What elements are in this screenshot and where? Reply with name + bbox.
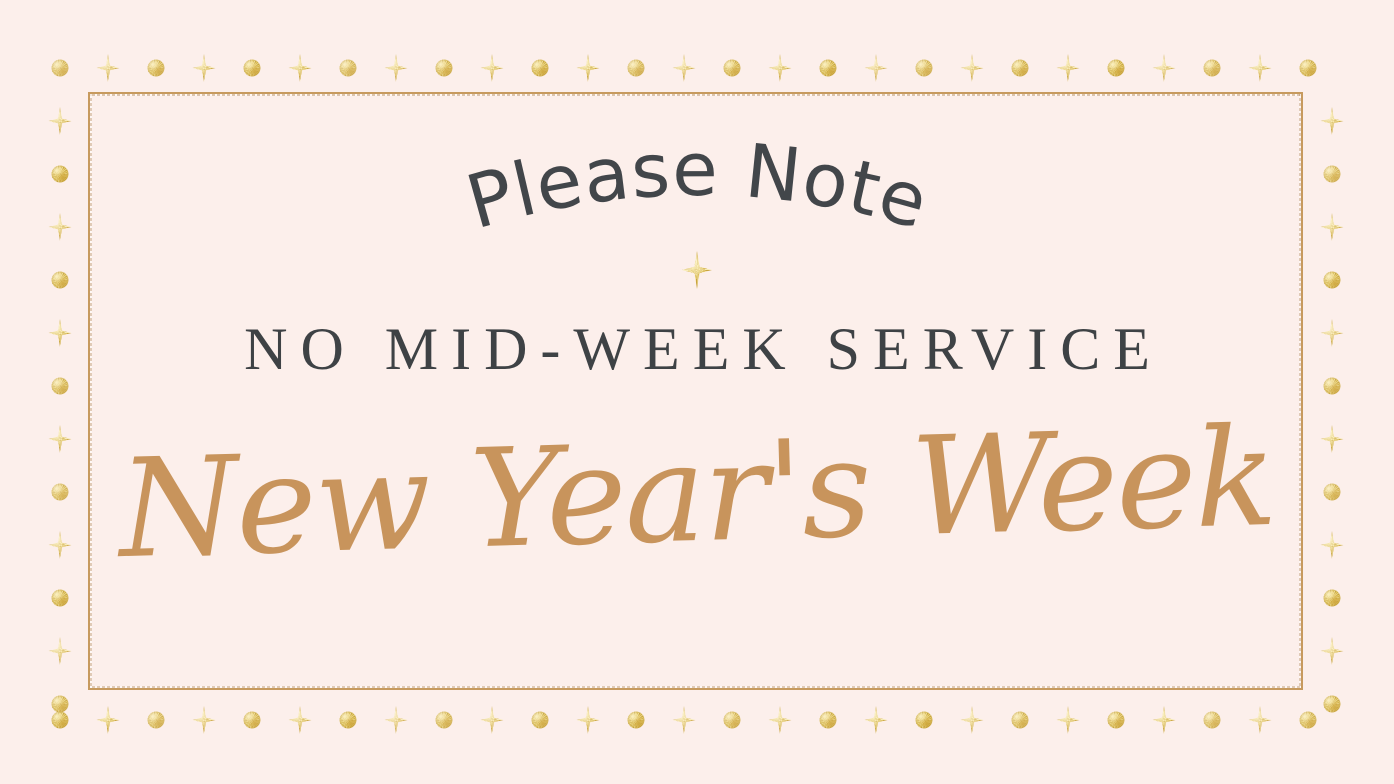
gold-four-point-star-icon <box>385 54 408 82</box>
gold-glitter-dot-icon <box>1324 590 1341 607</box>
gold-glitter-dot-icon <box>52 696 69 713</box>
gold-glitter-dot-icon <box>628 60 645 77</box>
gold-four-point-star-icon <box>673 54 696 82</box>
gold-glitter-dot-icon <box>436 60 453 77</box>
gold-four-point-star-icon <box>289 54 312 82</box>
gold-glitter-dot-icon <box>1108 60 1125 77</box>
gold-glitter-dot-icon <box>1204 712 1221 729</box>
gold-glitter-dot-icon <box>724 60 741 77</box>
eyebrow-textpath: Please Note <box>458 127 937 246</box>
gold-glitter-dot-icon <box>1012 712 1029 729</box>
gold-four-point-star-icon <box>1321 637 1344 665</box>
gold-four-point-star-icon <box>97 706 120 734</box>
gold-glitter-dot-icon <box>916 712 933 729</box>
gold-glitter-dot-icon <box>628 712 645 729</box>
gold-glitter-dot-icon <box>532 712 549 729</box>
gold-glitter-dot-icon <box>1324 272 1341 289</box>
gold-glitter-dot-icon <box>1108 712 1125 729</box>
announcement-poster: Please Note NO MID-WEEK SERVICE New Year… <box>0 0 1394 784</box>
gold-glitter-dot-icon <box>340 712 357 729</box>
gold-four-point-star-icon <box>769 54 792 82</box>
gold-glitter-dot-icon <box>436 712 453 729</box>
gold-four-point-star-icon <box>1153 54 1176 82</box>
headline-no-mid-week-service: NO MID-WEEK SERVICE <box>0 318 1394 381</box>
gold-four-point-star-icon <box>577 706 600 734</box>
gold-glitter-dot-icon <box>340 60 357 77</box>
gold-glitter-dot-icon <box>148 712 165 729</box>
gold-four-point-star-icon <box>1057 54 1080 82</box>
script-new-years-week: New Year's Week <box>0 377 1394 613</box>
gold-four-point-star-icon <box>1153 706 1176 734</box>
gold-glitter-dot-icon <box>724 712 741 729</box>
gold-glitter-dot-icon <box>1204 60 1221 77</box>
gold-four-point-star-icon <box>49 637 72 665</box>
gold-four-point-star-icon <box>481 54 504 82</box>
gold-glitter-dot-icon <box>244 60 261 77</box>
gold-glitter-dot-icon <box>820 60 837 77</box>
gold-glitter-dot-icon <box>1300 712 1317 729</box>
gold-four-point-star-icon <box>1057 706 1080 734</box>
eyebrow-arched-heading: Please Note <box>0 118 1394 248</box>
gold-glitter-dot-icon <box>52 60 69 77</box>
gold-four-point-star-icon <box>481 706 504 734</box>
gold-glitter-dot-icon <box>1324 696 1341 713</box>
gold-four-point-star-icon <box>673 706 696 734</box>
gold-glitter-dot-icon <box>244 712 261 729</box>
gold-glitter-dot-icon <box>1300 60 1317 77</box>
gold-glitter-dot-icon <box>52 272 69 289</box>
gold-four-point-star-icon <box>577 54 600 82</box>
gold-four-point-star-icon <box>1249 706 1272 734</box>
gold-four-point-star-icon <box>97 54 120 82</box>
gold-glitter-dot-icon <box>148 60 165 77</box>
gold-four-point-star-icon <box>1249 54 1272 82</box>
gold-four-point-star-icon <box>289 706 312 734</box>
gold-four-point-star-icon <box>961 54 984 82</box>
gold-glitter-dot-icon <box>916 60 933 77</box>
gold-glitter-dot-icon <box>1012 60 1029 77</box>
gold-four-point-star-icon <box>193 54 216 82</box>
gold-four-point-star-icon <box>865 54 888 82</box>
gold-glitter-dot-icon <box>532 60 549 77</box>
gold-glitter-dot-icon <box>820 712 837 729</box>
gold-four-point-star-icon <box>385 706 408 734</box>
gold-four-point-star-icon <box>193 706 216 734</box>
gold-four-point-star-icon <box>865 706 888 734</box>
gold-four-point-star-icon <box>769 706 792 734</box>
gold-glitter-dot-icon <box>52 712 69 729</box>
eyebrow-text: Please Note <box>458 127 937 246</box>
gold-four-point-star-icon <box>961 706 984 734</box>
